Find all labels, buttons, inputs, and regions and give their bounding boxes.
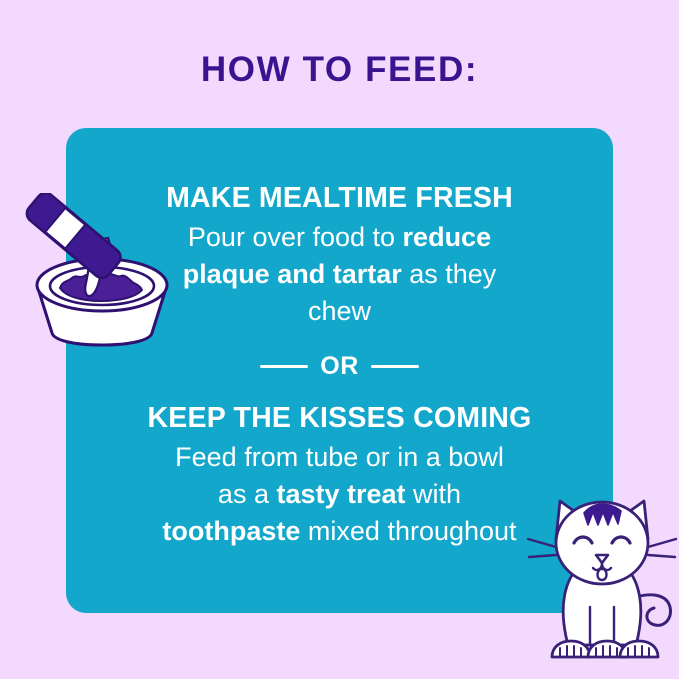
text-run: mixed throughout <box>300 516 516 546</box>
divider-label: OR <box>320 352 359 381</box>
divider-rule-right <box>371 365 419 368</box>
cat-tongue <box>598 569 607 580</box>
or-divider: OR <box>260 352 419 381</box>
text-run-bold: plaque and tartar <box>183 259 402 289</box>
feed-method-2-body-line: toothpaste mixed throughout <box>90 513 589 550</box>
text-run: with <box>406 479 462 509</box>
page-title: HOW TO FEED: <box>0 50 679 90</box>
text-run: Feed from tube or in a bowl <box>175 442 504 472</box>
text-run: Pour over food to <box>188 222 403 252</box>
text-run-bold: tasty treat <box>276 479 405 509</box>
text-run-bold: toothpaste <box>162 516 300 546</box>
cat-paw-3 <box>620 641 658 657</box>
text-run-bold: reduce <box>403 222 492 252</box>
page-root: HOW TO FEED: MAKE MEALTIME FRESH Pour ov… <box>0 0 679 679</box>
feed-method-2-body-line: Feed from tube or in a bowl <box>90 439 589 476</box>
cat-paw-1 <box>552 641 590 657</box>
toothpaste-bowl-icon <box>16 193 188 348</box>
divider-rule-left <box>260 365 308 368</box>
text-run: as they <box>402 259 497 289</box>
cat-icon <box>526 487 678 665</box>
feed-method-2-body-line: as a tasty treat with <box>90 476 589 513</box>
text-run: chew <box>308 296 371 326</box>
text-run: as a <box>218 479 277 509</box>
feed-method-2-heading: KEEP THE KISSES COMING <box>66 401 613 435</box>
